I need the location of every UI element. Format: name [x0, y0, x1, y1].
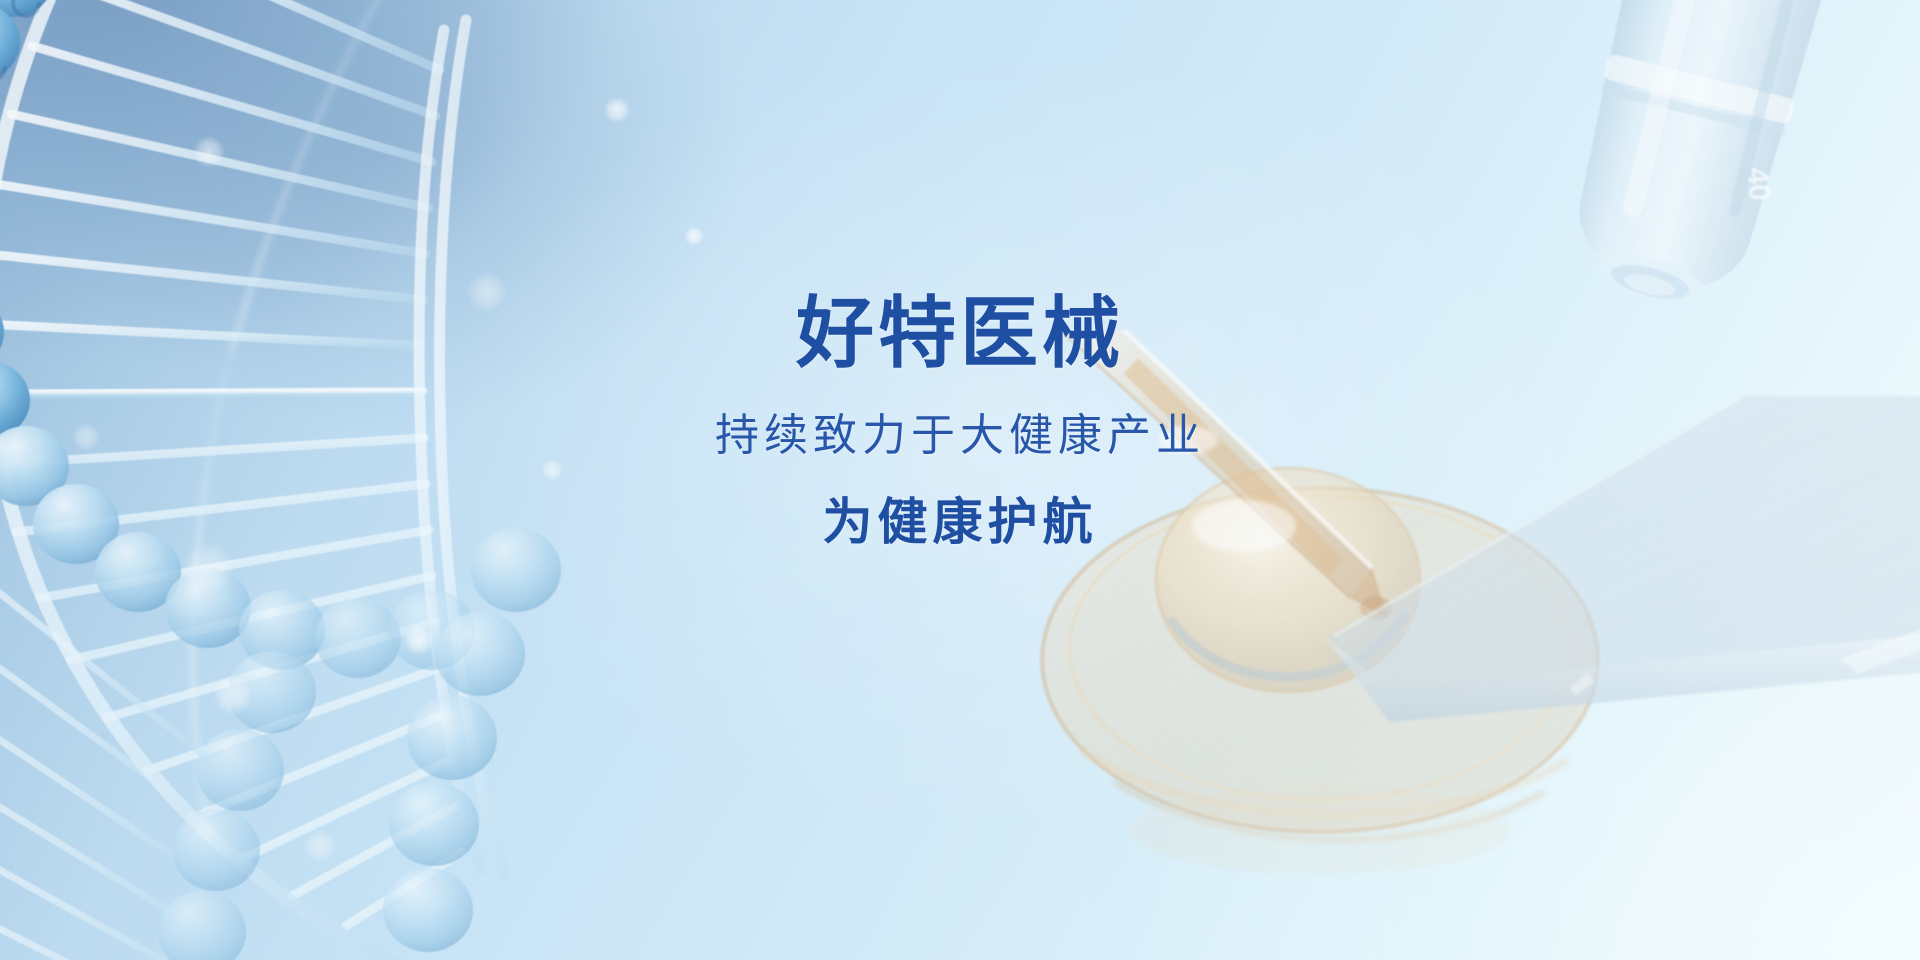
hero-subtitle: 持续致力于大健康产业 — [0, 411, 1920, 460]
page-title: 好特医械 — [0, 292, 1920, 375]
hero-tagline: 为健康护航 — [0, 494, 1920, 550]
hero-banner: 40 — [0, 0, 1920, 960]
objective-magnification-label: 40 — [1741, 166, 1776, 202]
objective-barrel: 40 — [1548, 0, 1844, 322]
hero-text-block: 好特医械 持续致力于大健康产业 为健康护航 — [0, 292, 1920, 550]
dna-beads-lower-right — [383, 528, 561, 952]
